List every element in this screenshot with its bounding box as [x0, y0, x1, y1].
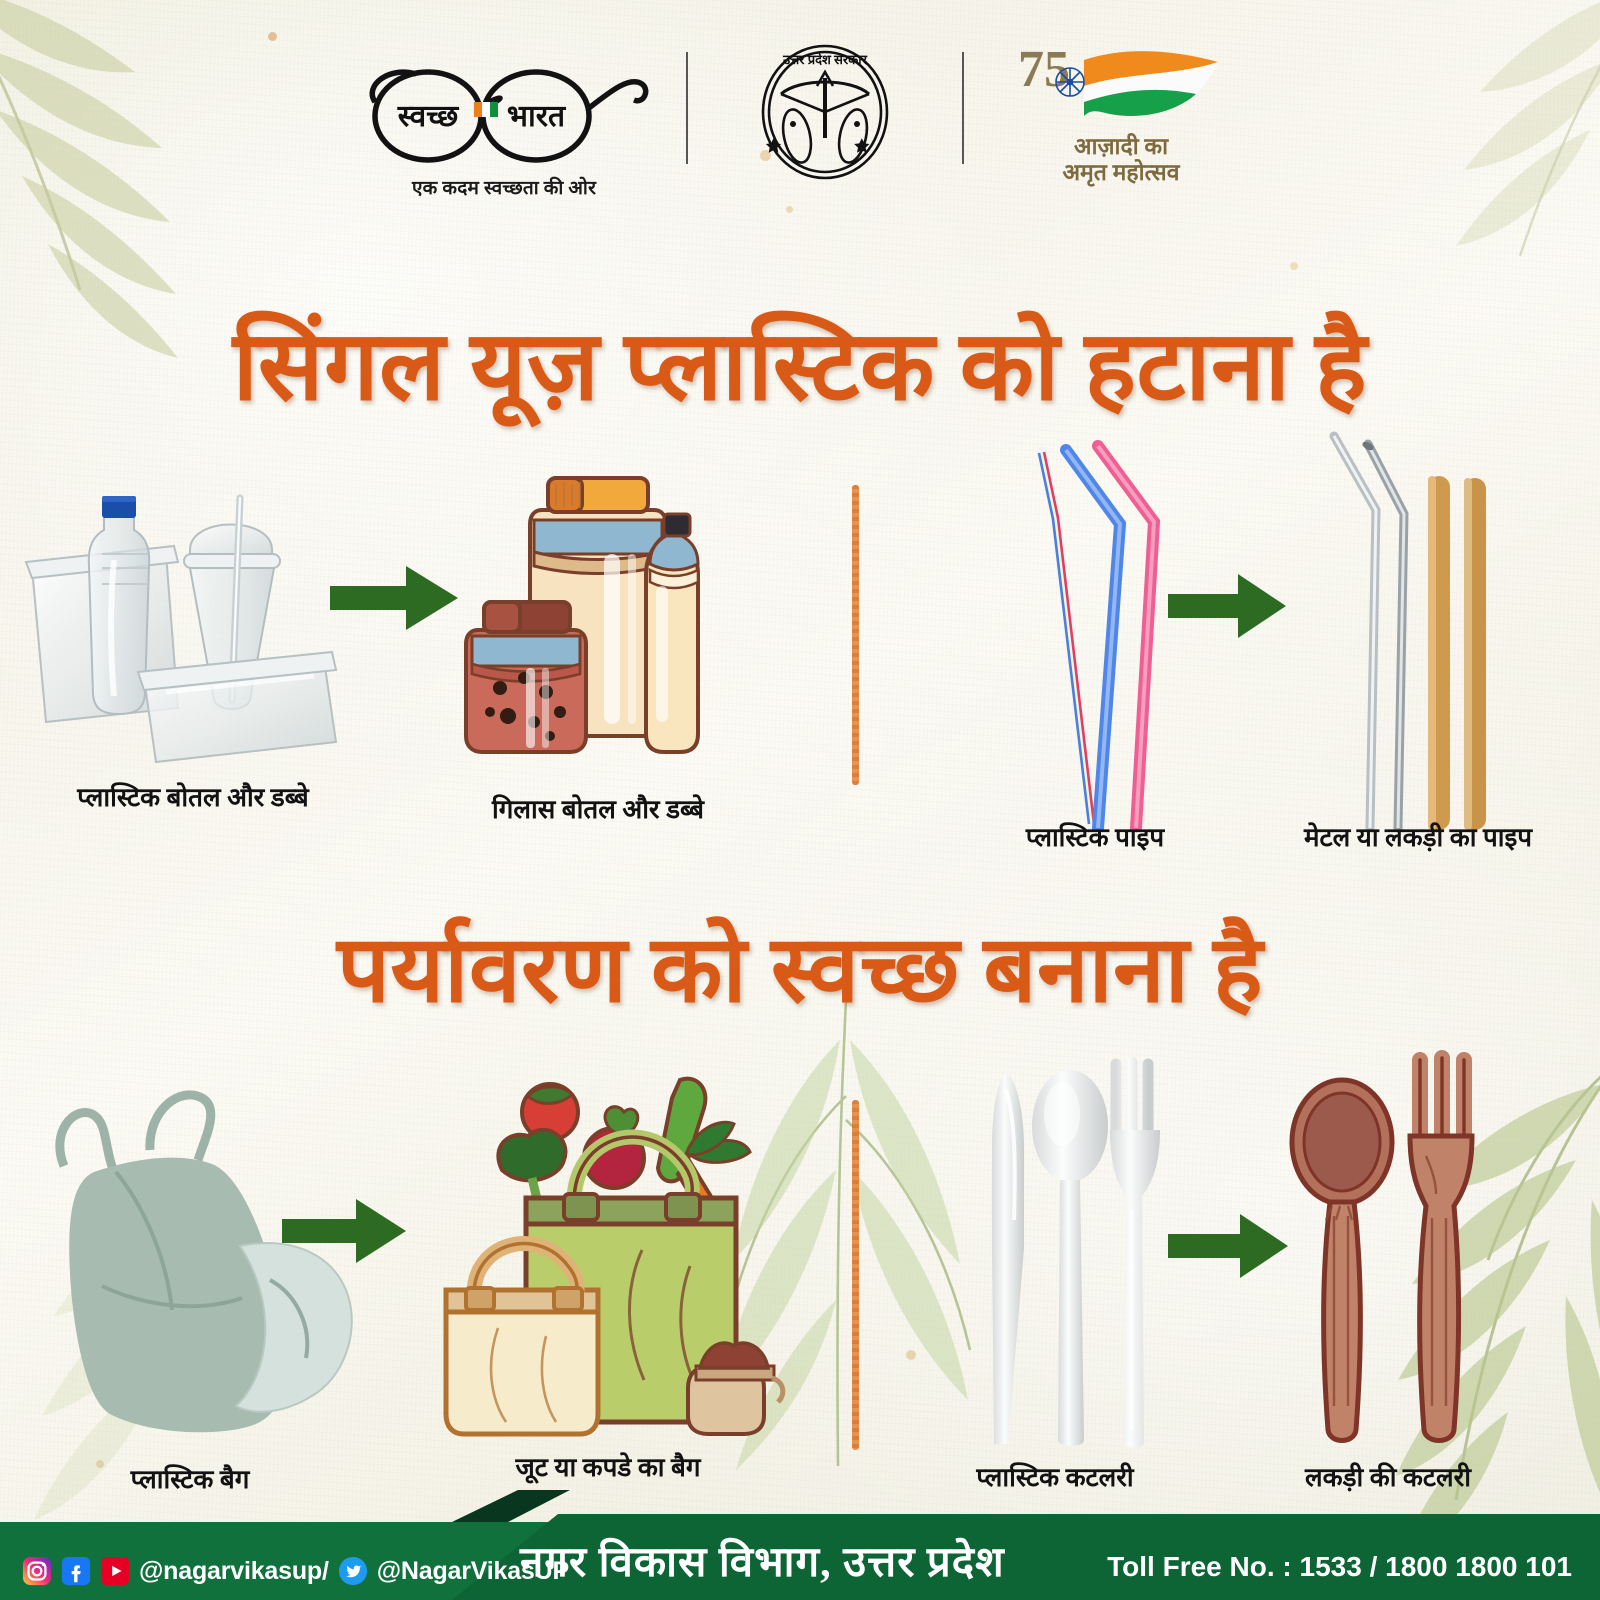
item-glass-bottle-and-jars — [438, 444, 758, 774]
caption-plastic-carry-bag: प्लास्टिक बैग — [40, 1460, 340, 1496]
right-arrow-icon — [282, 1194, 408, 1268]
footer-bar: @nagarvikasup/ @NagarVikasUP नगर विकास व… — [0, 1514, 1600, 1600]
item-plastic-bottle-and-containers — [18, 450, 368, 770]
paper-speck — [268, 32, 277, 41]
caption-metal-and-wooden-straws: मेटल या लकड़ी का पाइप — [1258, 818, 1578, 854]
item-plastic-cutlery — [940, 1030, 1170, 1450]
amrit-mahotsav-line2: अमृत महोत्सव — [1062, 160, 1179, 186]
caption-plastic-cutlery: प्लास्टिक कटलरी — [930, 1458, 1180, 1494]
logo-up-government: उत्तर प्रदेश सरकार — [720, 42, 930, 182]
item-plastic-straws — [980, 430, 1200, 830]
item-jute-and-cloth-bags — [428, 1050, 788, 1440]
item-metal-and-wooden-straws — [1288, 430, 1518, 830]
social-links-group[interactable]: @nagarvikasup/ @NagarVikasUP — [22, 1556, 569, 1586]
caption-wooden-cutlery: लकड़ी की कटलरी — [1258, 1458, 1518, 1494]
header-divider-1 — [686, 52, 688, 164]
right-arrow-icon — [1168, 570, 1288, 642]
plastic-bottle-and-containers-art — [18, 450, 368, 770]
header-logo-strip: स्वच्छ भारत एक कदम स्वच्छता की ओर — [0, 42, 1600, 212]
page-heading-secondary: पर्यावरण को स्वच्छ बनाना है — [0, 903, 1600, 1029]
plastic-straws-art — [980, 430, 1200, 830]
department-name: नगर विकास विभाग, उत्तर प्रदेश — [520, 1532, 1005, 1589]
jute-and-cloth-bags-art — [428, 1050, 788, 1440]
instagram-icon[interactable] — [22, 1556, 52, 1586]
caption-glass-bottle-and-jars: गिलास बोतल और डब्बे — [408, 790, 788, 826]
paper-speck — [1290, 262, 1298, 270]
caption-jute-and-cloth-bags: जूट या कपडे का बैग — [418, 1448, 798, 1484]
section-separator-top — [852, 485, 859, 785]
toll-free-number: Toll Free No. : 1533 / 1800 1800 101 — [1107, 1551, 1572, 1583]
logo-azadi-amrit-mahotsav: 75 आज़ादी का अमृत महोत्सव — [996, 42, 1246, 186]
amrit-mahotsav-flag-icon: 75 — [1006, 42, 1236, 134]
comparison-row-bags-cutlery: प्लास्टिक बैग — [0, 1030, 1600, 1500]
logo-swachh-bharat: स्वच्छ भारत एक कदम स्वच्छता की ओर — [354, 42, 654, 200]
arrow-plastic-bag-to-cloth — [282, 1194, 408, 1273]
youtube-icon[interactable] — [100, 1556, 130, 1586]
plastic-cutlery-art — [940, 1030, 1170, 1450]
twitter-icon[interactable] — [338, 1556, 368, 1586]
arrow-plastic-straw-to-reusable — [1168, 570, 1288, 647]
instagram-handle[interactable]: @nagarvikasup/ — [139, 1557, 329, 1586]
up-government-emblem-icon: उत्तर प्रदेश सरकार — [737, 42, 913, 182]
wooden-cutlery-art — [1268, 1030, 1508, 1450]
caption-plastic-bottle-and-containers: प्लास्टिक बोतल और डब्बे — [18, 778, 368, 814]
item-wooden-cutlery — [1268, 1030, 1508, 1450]
header-divider-2 — [962, 52, 964, 164]
up-emblem-caption: उत्तर प्रदेश सरकार — [782, 52, 868, 67]
glass-bottle-and-jars-art — [438, 444, 758, 774]
metal-and-wooden-straws-art — [1288, 430, 1518, 830]
poster-canvas: स्वच्छ भारत एक कदम स्वच्छता की ओर — [0, 0, 1600, 1600]
swachh-bharat-glasses-icon: स्वच्छ भारत — [354, 42, 654, 170]
amrit-mahotsav-line1: आज़ादी का — [1074, 134, 1168, 160]
swachh-bharat-word-right: भारत — [507, 100, 567, 133]
swachh-bharat-word-left: स्वच्छ — [397, 100, 459, 133]
facebook-icon[interactable] — [61, 1556, 91, 1586]
caption-plastic-straws: प्लास्टिक पाइप — [950, 818, 1240, 854]
comparison-row-bottles-straws: प्लास्टिक बोतल और डब्बे — [0, 430, 1600, 880]
page-heading-primary: सिंगल यूज़ प्लास्टिक को हटाना है — [0, 296, 1600, 428]
swachh-bharat-tagline: एक कदम स्वच्छता की ओर — [412, 174, 596, 200]
